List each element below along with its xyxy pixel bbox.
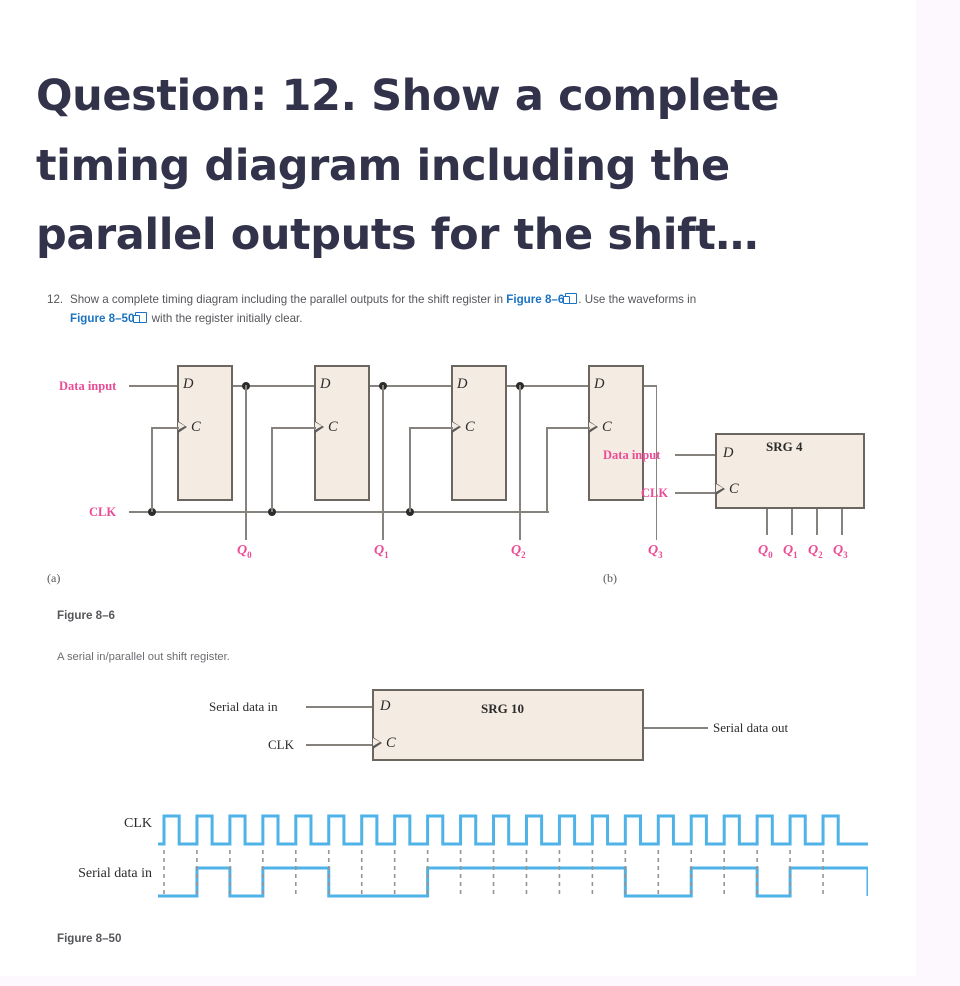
q2-tap-wire — [519, 385, 521, 540]
data-input-label-b: Data input — [603, 448, 660, 463]
srg10-d-label: D — [380, 698, 390, 715]
srg4-q1-wire — [791, 509, 793, 535]
q1-label: Q1 — [374, 543, 389, 560]
figure-8-6-caption: Figure 8–6 — [57, 609, 115, 622]
flipflop-0-c-label: C — [191, 419, 201, 436]
srg10-title: SRG 10 — [481, 701, 524, 717]
serial-data-out-label: Serial data out — [713, 720, 788, 736]
q0-tap-wire — [245, 385, 247, 540]
srg4-title: SRG 4 — [766, 439, 802, 455]
data-input-wire — [129, 385, 177, 387]
srg10-block — [372, 689, 644, 761]
clk-feed-1 — [271, 427, 316, 429]
problem-text-part2: . Use the waveforms in — [578, 293, 696, 306]
timing-waveform-chart — [158, 806, 868, 902]
waveform-clk-label: CLK — [40, 816, 152, 832]
problem-number: 12. — [47, 291, 63, 310]
srg4-q0-label: Q0 — [758, 543, 773, 560]
clk-feed-0 — [151, 427, 179, 429]
srg4-q2-label: Q2 — [808, 543, 823, 560]
figure-8-50-caption: Figure 8–50 — [57, 932, 121, 945]
figure-8-6-link[interactable]: Figure 8–6 — [506, 293, 564, 306]
clk-bus-wire — [129, 511, 549, 513]
q3-label: Q3 — [648, 543, 663, 560]
part-a-label: (a) — [47, 571, 60, 586]
srg4-q2-wire — [816, 509, 818, 535]
problem-statement: 12. Show a complete timing diagram inclu… — [47, 291, 917, 329]
srg4-data-wire — [675, 454, 715, 456]
clk-riser-2 — [409, 427, 411, 512]
flipflop-0-clock-triangle-fill — [178, 422, 185, 430]
flipflop-2-clock-triangle-fill — [452, 422, 459, 430]
q2-label: Q2 — [511, 543, 526, 560]
srg4-clock-triangle-fill — [716, 484, 723, 492]
problem-text-part3: with the register initially clear. — [148, 312, 302, 325]
srg4-clk-wire — [675, 492, 715, 494]
data-input-label-a: Data input — [59, 379, 116, 394]
srg4-d-label: D — [723, 445, 733, 462]
serial-data-in-label: Serial data in — [209, 699, 278, 715]
figure-8-50-link[interactable]: Figure 8–50 — [70, 312, 134, 325]
srg4-c-label: C — [729, 481, 739, 498]
clk-riser-0 — [151, 427, 153, 512]
problem-text: Show a complete timing diagram including… — [70, 291, 917, 329]
flipflop-1-d-label: D — [320, 376, 330, 393]
srg4-q3-wire — [841, 509, 843, 535]
srg10-clk-label: CLK — [268, 737, 294, 753]
flipflop-1-clock-triangle-fill — [315, 422, 322, 430]
flipflop-3-c-label: C — [602, 419, 612, 436]
clk-label-a: CLK — [89, 505, 116, 520]
srg4-q1-label: Q1 — [783, 543, 798, 560]
page-title: Question: 12. Show a complete timing dia… — [36, 62, 866, 271]
clk-riser-1 — [271, 427, 273, 512]
q1-tap-wire — [382, 385, 384, 540]
problem-text-part1: Show a complete timing diagram including… — [70, 293, 506, 306]
external-window-icon[interactable] — [565, 293, 577, 304]
external-window-icon-2[interactable] — [135, 312, 147, 323]
flipflop-2-c-label: C — [465, 419, 475, 436]
clk-feed-2 — [409, 427, 453, 429]
part-b-label: (b) — [603, 571, 617, 586]
flipflop-0-d-label: D — [183, 376, 193, 393]
q0-label: Q0 — [237, 543, 252, 560]
flipflop-1-c-label: C — [328, 419, 338, 436]
figure-8-6-description: A serial in/parallel out shift register. — [57, 651, 230, 663]
flipflop-3-d-label: D — [594, 376, 604, 393]
flipflop-3-clock-triangle-fill — [589, 422, 596, 430]
srg10-clock-triangle-fill — [373, 738, 380, 746]
srg10-data-wire — [306, 706, 372, 708]
srg10-out-wire — [644, 727, 708, 729]
srg4-q3-label: Q3 — [833, 543, 848, 560]
clk-feed-3 — [546, 427, 590, 429]
srg10-clk-wire — [306, 744, 372, 746]
srg4-q0-wire — [766, 509, 768, 535]
flipflop-2-d-label: D — [457, 376, 467, 393]
waveform-data-label: Serial data in — [20, 866, 152, 882]
figure-8-6-diagram: Data input D C Q0 D C Q1 D C Q2 D C Q3 C… — [47, 355, 907, 595]
clk-riser-3 — [546, 427, 548, 512]
clk-label-b: CLK — [641, 486, 668, 501]
srg10-c-label: C — [386, 735, 396, 752]
